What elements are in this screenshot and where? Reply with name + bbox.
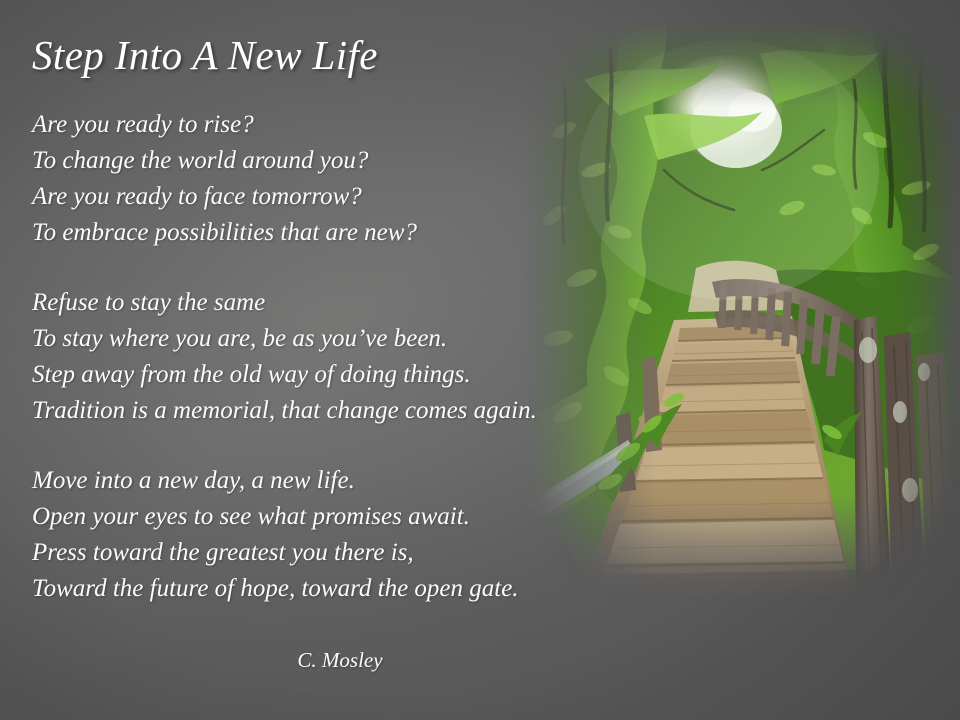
poem-line: Are you ready to face tomorrow? [32,179,592,215]
author-attribution: C. Mosley [0,648,680,673]
poem-line: To change the world around you? [32,143,592,179]
poem-line: Open your eyes to see what promises awai… [32,499,592,535]
poem-line: Toward the future of hope, toward the op… [32,571,592,607]
poem-line: To stay where you are, be as you’ve been… [32,321,592,357]
poem-line: Tradition is a memorial, that change com… [32,393,592,429]
stanza-3: Move into a new day, a new life. Open yo… [32,463,592,607]
poem-line: Move into a new day, a new life. [32,463,592,499]
poem-line: Refuse to stay the same [32,285,592,321]
poem-line: Step away from the old way of doing thin… [32,357,592,393]
poem-text-block: Step Into A New Life Are you ready to ri… [32,34,592,607]
stanza-2: Refuse to stay the same To stay where yo… [32,285,592,429]
poem-line: Are you ready to rise? [32,107,592,143]
page-title: Step Into A New Life [32,34,592,77]
poem-line: To embrace possibilities that are new? [32,215,592,251]
stanza-1: Are you ready to rise? To change the wor… [32,107,592,251]
poem-line: Press toward the greatest you there is, [32,535,592,571]
slide-canvas: Step Into A New Life Are you ready to ri… [0,0,960,720]
